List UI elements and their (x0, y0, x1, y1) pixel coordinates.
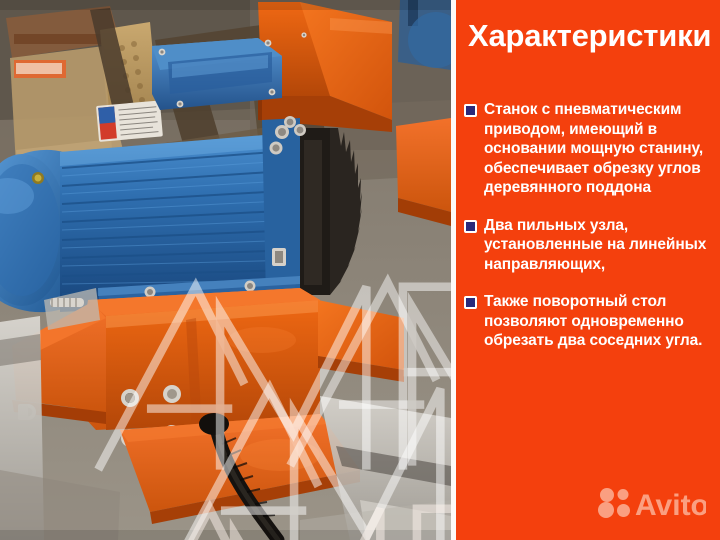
square-bullet-icon (464, 296, 477, 309)
avito-dots-icon: Avito (598, 486, 706, 520)
list-item: Также поворотный стол позволяют одноврем… (464, 292, 714, 351)
avito-wordmark: Avito (635, 489, 706, 520)
list-item: Станок с пневматическим приводом, имеющи… (464, 100, 714, 198)
list-item-label: Также поворотный стол позволяют одноврем… (484, 292, 714, 351)
specs-panel: Характеристики Станок с пневматическим п… (456, 0, 720, 540)
square-bullet-icon (464, 220, 477, 233)
page-title: Характеристики (468, 20, 718, 53)
product-card: АБСОЛЮТМАШ АБСОЛЮТМАШ (0, 0, 720, 540)
product-photo: АБСОЛЮТМАШ АБСОЛЮТМАШ (0, 0, 451, 540)
list-item: Два пильных узла, установленные на линей… (464, 216, 714, 275)
square-bullet-icon (464, 104, 477, 117)
avito-logo: Avito (598, 486, 706, 520)
specs-list: Станок с пневматическим приводом, имеющи… (464, 100, 714, 369)
list-item-label: Станок с пневматическим приводом, имеющи… (484, 100, 714, 198)
list-item-label: Два пильных узла, установленные на линей… (484, 216, 714, 275)
